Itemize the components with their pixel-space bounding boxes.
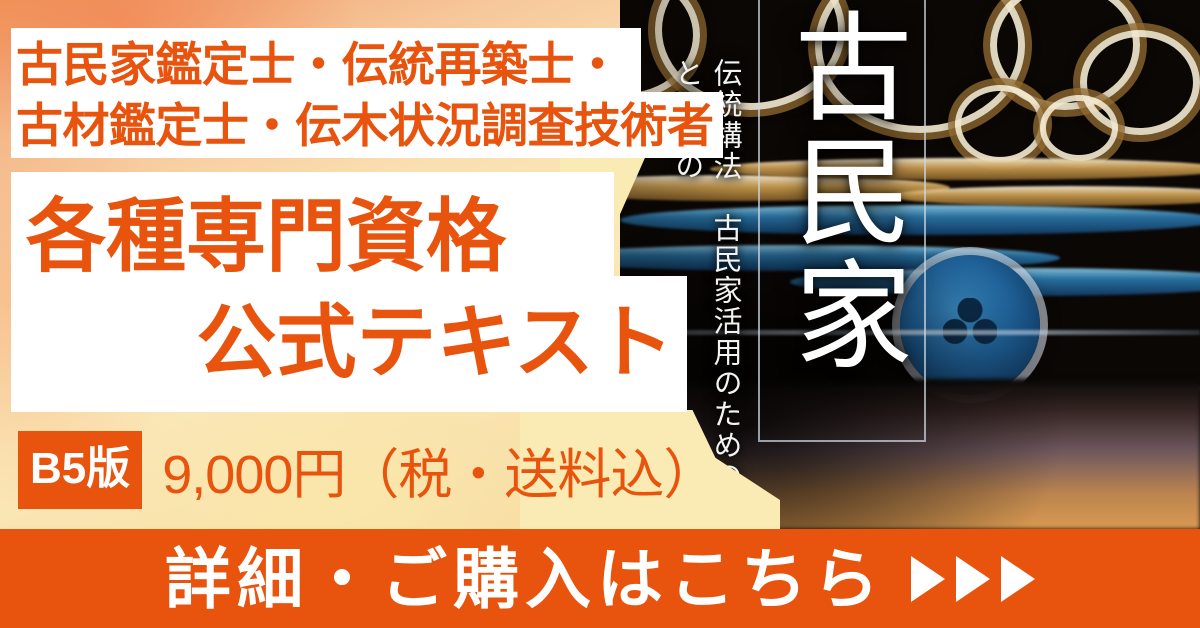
subheading: 各種専門資格 公式テキスト [14, 184, 686, 395]
page-title: 古民家鑑定士・伝統再築士・ 古材鑑定士・伝木状況調査技術者 [16, 34, 722, 156]
cta-arrows [911, 556, 1035, 602]
promo-banner: 古民家 伝統構法 古民家活用のための調査と再生の 古民家鑑定士・伝統再築士・ 古… [0, 0, 1200, 628]
triangle-right-icon [911, 556, 945, 602]
subheading-line-1: 各種専門資格 [14, 184, 686, 290]
triangle-right-icon [956, 556, 990, 602]
price-label: 9,000円（税・送料込） [162, 430, 716, 509]
size-badge: B5版 [18, 431, 142, 509]
price-row: B5版 9,000円（税・送料込） [18, 430, 716, 509]
cta-label: 詳細・ご購入はこちら [165, 546, 885, 612]
subheading-line-2: 公式テキスト [14, 290, 686, 396]
book-title: 古民家 [770, 6, 910, 436]
cta-button[interactable]: 詳細・ご購入はこちら [0, 529, 1200, 628]
triangle-right-icon [1001, 556, 1035, 602]
